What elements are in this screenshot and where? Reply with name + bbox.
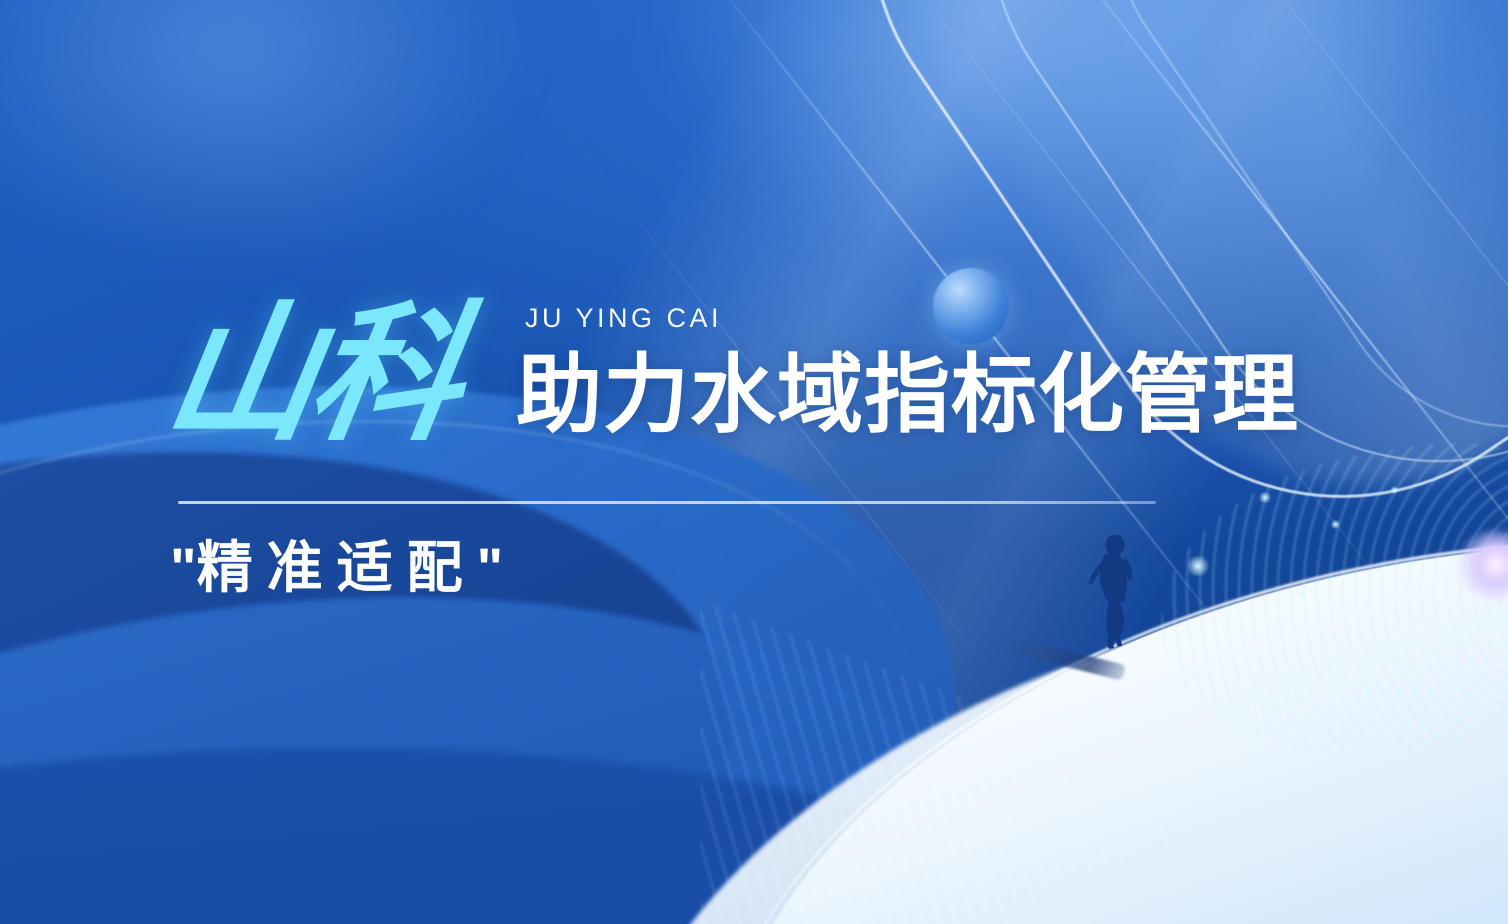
brand-pinyin-text: JU YING CAI (525, 303, 722, 334)
brand-logo-text: 山科 (156, 300, 468, 450)
banner-content: 山科 JU YING CAI 助力水域指标化管理 "精准适配" (0, 0, 1508, 924)
tagline-close-quote: " (477, 536, 504, 599)
tagline-text: 精准适配 (197, 536, 477, 601)
tagline-open-quote: " (170, 536, 197, 599)
banner-tagline: "精准适配" (170, 540, 503, 597)
headline-divider (178, 501, 1156, 504)
promo-banner: 山科 JU YING CAI 助力水域指标化管理 "精准适配" (0, 0, 1508, 924)
banner-headline: 助力水域指标化管理 (516, 352, 1299, 438)
